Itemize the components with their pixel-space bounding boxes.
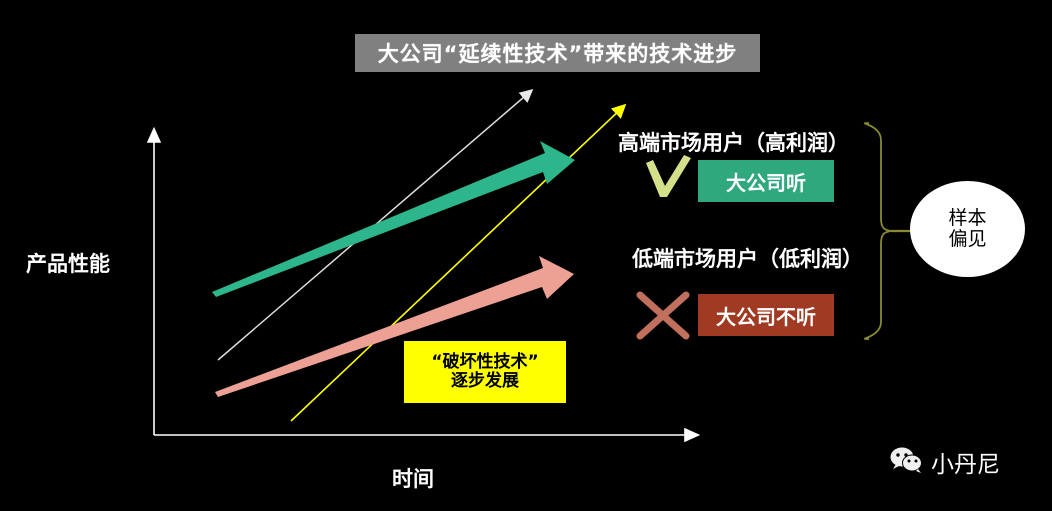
disruptive-callout-line2: 逐步发展 [451, 372, 519, 391]
slide-title-text: 大公司“延续性技术”带来的技术进步 [378, 38, 738, 68]
watermark-text: 小丹尼 [931, 445, 1000, 479]
cross-icon [640, 295, 686, 336]
wechat-icon [890, 446, 924, 478]
disruptive-tech-callout: “破坏性技术” 逐步发展 [404, 341, 566, 403]
big-company-ignores-chip: 大公司不听 [698, 294, 834, 336]
wechat-watermark: 小丹尼 [890, 445, 1000, 479]
bias-line2: 偏见 [948, 229, 986, 250]
diagram-graphics [0, 0, 1052, 511]
y-axis-label: 产品性能 [26, 248, 110, 278]
sustaining-demand-line [218, 91, 531, 360]
check-icon [646, 155, 691, 197]
disruptive-callout-line1: “破坏性技术” [431, 353, 538, 372]
high-end-trajectory-arrow [212, 141, 575, 297]
low-end-segment-label: 低端市场用户（低利润） [632, 243, 863, 273]
big-company-listens-chip: 大公司听 [698, 160, 834, 202]
x-axis-label: 时间 [392, 463, 434, 493]
high-end-segment-label: 高端市场用户（高利润） [618, 127, 849, 157]
bias-line1: 样本 [948, 208, 986, 229]
slide-title-banner: 大公司“延续性技术”带来的技术进步 [355, 34, 760, 72]
sampling-bias-callout: 样本 偏见 [910, 181, 1025, 277]
slide-canvas: 大公司“延续性技术”带来的技术进步 产品性能 时间 “破坏性技术” 逐步发展 高… [0, 0, 1052, 511]
